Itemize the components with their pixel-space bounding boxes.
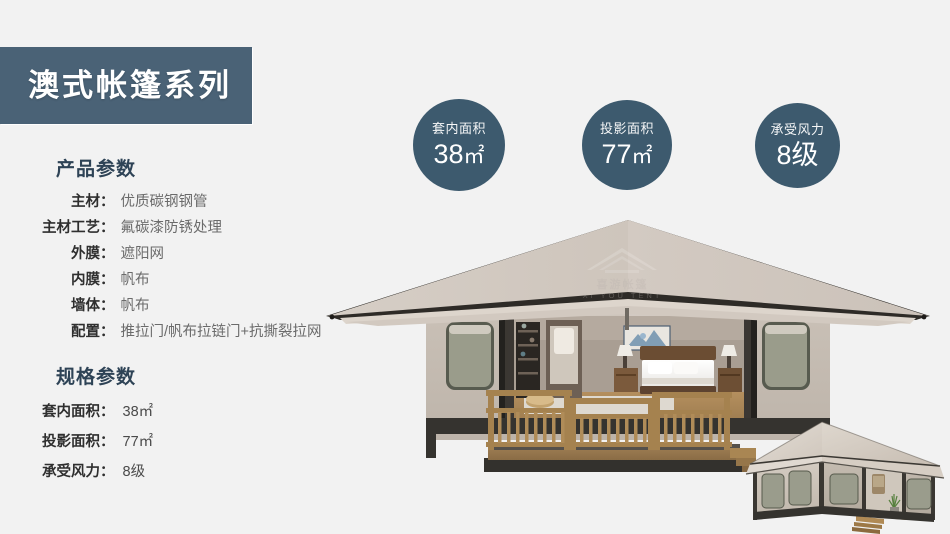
param-label: 投影面积 xyxy=(0,427,100,457)
param-row: 套内面积：38㎡ xyxy=(0,397,153,427)
param-value: 帆布 xyxy=(115,267,150,293)
page-title: 澳式帐篷系列 xyxy=(28,70,232,101)
param-label: 内膜 xyxy=(0,267,100,293)
spec-parameters-list: 套内面积：38㎡ 投影面积：77㎡ 承受风力：8级 xyxy=(0,397,153,487)
stat-label: 投影面积 xyxy=(600,122,654,135)
param-value: 优质碳钢钢管 xyxy=(115,189,208,215)
param-value: 推拉门/帆布拉链门+抗撕裂拉网 xyxy=(115,319,322,345)
stat-circle-projected-area: 投影面积 77㎡ xyxy=(582,100,672,190)
product-parameters-section: 产品参数 主材：优质碳钢钢管 主材工艺：氟碳漆防锈处理 外膜：遮阳网 内膜：帆布… xyxy=(0,160,322,345)
param-row: 配置：推拉门/帆布拉链门+抗撕裂拉网 xyxy=(0,319,322,345)
param-colon: ： xyxy=(100,241,115,267)
param-label: 套内面积 xyxy=(0,397,100,427)
param-colon: ： xyxy=(100,215,115,241)
param-label: 墙体 xyxy=(0,293,100,319)
param-row: 墙体：帆布 xyxy=(0,293,322,319)
spec-parameters-section: 规格参数 套内面积：38㎡ 投影面积：77㎡ 承受风力：8级 xyxy=(0,368,153,487)
stat-value: 8级 xyxy=(776,142,818,169)
param-colon: ： xyxy=(100,427,115,457)
stat-value: 38㎡ xyxy=(433,141,484,168)
param-label: 外膜 xyxy=(0,241,100,267)
param-row: 投影面积：77㎡ xyxy=(0,427,153,457)
product-parameters-heading: 产品参数 xyxy=(56,160,322,179)
stat-label: 承受风力 xyxy=(770,123,824,136)
stat-circle-indoor-area: 套内面积 38㎡ xyxy=(413,99,505,191)
param-value: 8级 xyxy=(115,457,146,487)
param-row: 外膜：遮阳网 xyxy=(0,241,322,267)
param-label: 承受风力 xyxy=(0,457,100,487)
spec-parameters-heading: 规格参数 xyxy=(56,368,153,387)
param-colon: ： xyxy=(100,293,115,319)
param-value: 氟碳漆防锈处理 xyxy=(115,215,223,241)
stat-circle-wind-resistance: 承受风力 8级 xyxy=(755,103,840,188)
param-label: 主材 xyxy=(0,189,100,215)
param-value: 77㎡ xyxy=(115,427,154,457)
param-label: 主材工艺 xyxy=(0,215,100,241)
param-row: 主材：优质碳钢钢管 xyxy=(0,189,322,215)
param-value: 帆布 xyxy=(115,293,150,319)
param-colon: ： xyxy=(100,457,115,487)
thumbnail-tent-illustration xyxy=(744,416,950,534)
title-banner: 澳式帐篷系列 xyxy=(0,47,252,124)
param-colon: ： xyxy=(100,397,115,427)
stat-label: 套内面积 xyxy=(432,122,486,135)
stat-value: 77㎡ xyxy=(601,141,652,168)
param-label: 配置 xyxy=(0,319,100,345)
param-colon: ： xyxy=(100,267,115,293)
param-value: 遮阳网 xyxy=(115,241,165,267)
param-row: 内膜：帆布 xyxy=(0,267,322,293)
param-colon: ： xyxy=(100,319,115,345)
slide-canvas: 澳式帐篷系列 xyxy=(0,0,950,534)
param-colon: ： xyxy=(100,189,115,215)
param-row: 承受风力：8级 xyxy=(0,457,153,487)
param-row: 主材工艺：氟碳漆防锈处理 xyxy=(0,215,322,241)
param-value: 38㎡ xyxy=(115,397,154,427)
product-parameters-list: 主材：优质碳钢钢管 主材工艺：氟碳漆防锈处理 外膜：遮阳网 内膜：帆布 墙体：帆… xyxy=(0,189,322,345)
